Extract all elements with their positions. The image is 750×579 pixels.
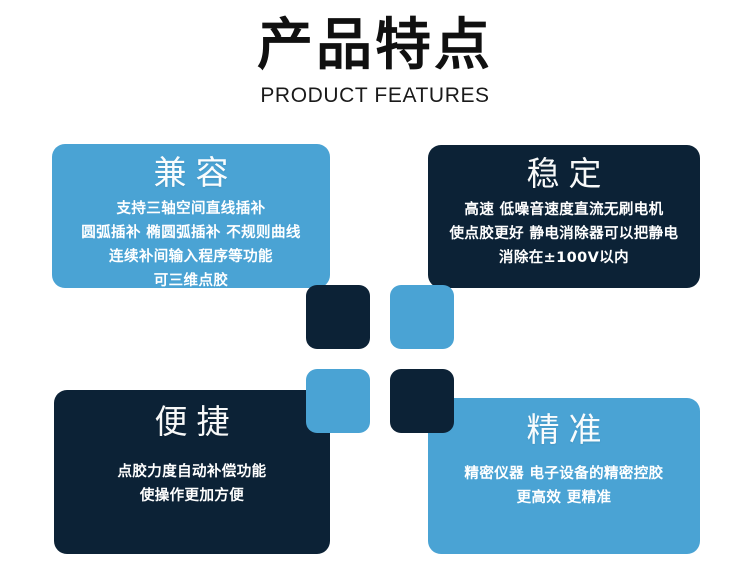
feature-card-precise-heading: 精准 — [428, 410, 700, 450]
feature-card-compat-lines: 支持三轴空间直线插补 圆弧插补 椭圆弧插补 不规则曲线 连续补间输入程序等功能 … — [52, 197, 330, 293]
feature-line: 更高效 更精准 — [428, 486, 700, 510]
feature-line: 点胶力度自动补偿功能 — [54, 460, 330, 484]
feature-card-convenient-heading: 便捷 — [54, 402, 330, 442]
feature-line: 支持三轴空间直线插补 — [52, 197, 330, 221]
feature-card-convenient: 便捷 点胶力度自动补偿功能 使操作更加方便 — [54, 390, 330, 554]
feature-card-stable-lines: 高速 低噪音速度直流无刷电机 使点胶更好 静电消除器可以把静电 消除在±100V… — [428, 198, 700, 270]
center-chip-bottom-right-icon — [390, 369, 454, 433]
page-title: 产品特点 — [0, 0, 750, 78]
feature-line: 高速 低噪音速度直流无刷电机 — [428, 198, 700, 222]
feature-card-compat-heading: 兼容 — [52, 153, 330, 193]
feature-card-compat: 兼容 支持三轴空间直线插补 圆弧插补 椭圆弧插补 不规则曲线 连续补间输入程序等… — [52, 144, 330, 288]
feature-line: 连续补间输入程序等功能 — [52, 245, 330, 269]
page-subtitle: PRODUCT FEATURES — [0, 78, 750, 108]
feature-card-precise-lines: 精密仪器 电子设备的精密控胶 更高效 更精准 — [428, 462, 700, 510]
feature-line: 消除在±100V以内 — [428, 246, 700, 270]
feature-line: 使操作更加方便 — [54, 484, 330, 508]
feature-card-stable: 稳定 高速 低噪音速度直流无刷电机 使点胶更好 静电消除器可以把静电 消除在±1… — [428, 145, 700, 288]
feature-line: 圆弧插补 椭圆弧插补 不规则曲线 — [52, 221, 330, 245]
feature-card-convenient-lines: 点胶力度自动补偿功能 使操作更加方便 — [54, 460, 330, 508]
feature-card-precise: 精准 精密仪器 电子设备的精密控胶 更高效 更精准 — [428, 398, 700, 554]
center-chip-top-left-icon — [306, 285, 370, 349]
header: 产品特点 PRODUCT FEATURES — [0, 0, 750, 108]
center-chip-top-right-icon — [390, 285, 454, 349]
feature-card-stable-heading: 稳定 — [428, 154, 700, 194]
feature-line: 可三维点胶 — [52, 269, 330, 293]
feature-line: 使点胶更好 静电消除器可以把静电 — [428, 222, 700, 246]
product-features-infographic: 产品特点 PRODUCT FEATURES 兼容 支持三轴空间直线插补 圆弧插补… — [0, 0, 750, 579]
feature-line: 精密仪器 电子设备的精密控胶 — [428, 462, 700, 486]
center-chip-bottom-left-icon — [306, 369, 370, 433]
